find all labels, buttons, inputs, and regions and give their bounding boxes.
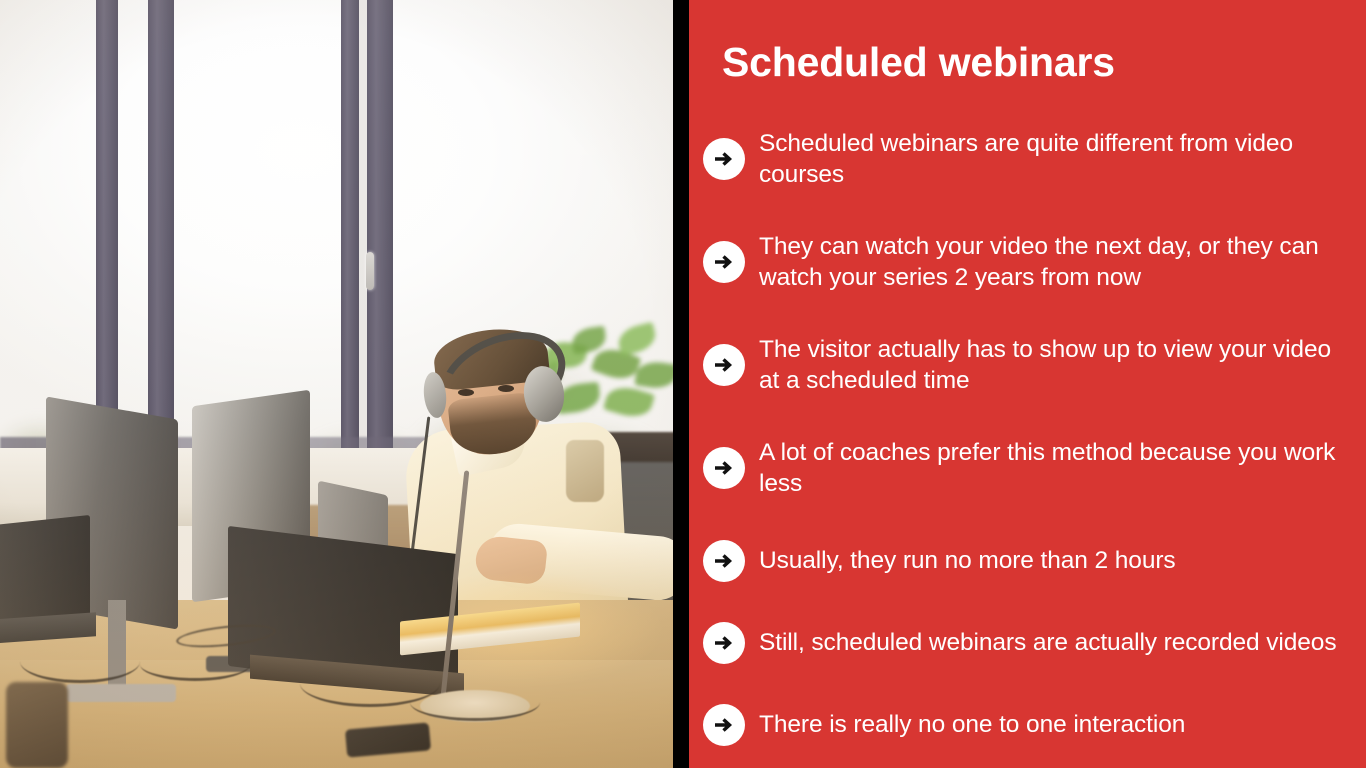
- foreground-cup: [6, 682, 68, 768]
- page-title: Scheduled webinars: [722, 40, 1322, 85]
- office-scene-illustration: [0, 0, 673, 768]
- list-item: Still, scheduled webinars are actually r…: [703, 622, 1358, 664]
- list-item-label: Still, scheduled webinars are actually r…: [759, 627, 1336, 658]
- window-frame-center: [341, 0, 359, 455]
- window-frame-left-inner: [148, 0, 174, 470]
- window-handle: [366, 252, 374, 290]
- arrow-right-icon: [703, 622, 745, 664]
- list-item-label: A lot of coaches prefer this method beca…: [759, 437, 1339, 500]
- slide-content-panel: Scheduled webinars Scheduled webinars ar…: [689, 0, 1366, 768]
- arrow-right-icon: [703, 241, 745, 283]
- list-item-label: The visitor actually has to show up to v…: [759, 334, 1339, 397]
- arrow-right-icon: [703, 344, 745, 386]
- list-item: They can watch your video the next day, …: [703, 231, 1358, 294]
- list-item: Scheduled webinars are quite different f…: [703, 128, 1358, 191]
- list-item: A lot of coaches prefer this method beca…: [703, 437, 1358, 500]
- desk-cable: [410, 684, 540, 721]
- monitor-left-base: [66, 684, 176, 702]
- slide-photo: [0, 0, 673, 768]
- window-frame-left: [96, 0, 118, 470]
- window-frame-center-right: [367, 0, 393, 455]
- coffee-mug: [566, 440, 604, 502]
- list-item-label: They can watch your video the next day, …: [759, 231, 1339, 294]
- panel-divider: [673, 0, 689, 768]
- list-item-label: Scheduled webinars are quite different f…: [759, 128, 1339, 191]
- arrow-right-icon: [703, 138, 745, 180]
- bullet-list: Scheduled webinars are quite different f…: [703, 128, 1358, 746]
- desk-cable: [140, 648, 250, 681]
- desk-cable: [20, 640, 140, 683]
- list-item: There is really no one to one interactio…: [703, 704, 1358, 746]
- arrow-right-icon: [703, 540, 745, 582]
- window-frame-center-light: [359, 0, 367, 455]
- list-item: Usually, they run no more than 2 hours: [703, 540, 1358, 582]
- list-item: The visitor actually has to show up to v…: [703, 334, 1358, 397]
- arrow-right-icon: [703, 447, 745, 489]
- list-item-label: There is really no one to one interactio…: [759, 709, 1185, 740]
- list-item-label: Usually, they run no more than 2 hours: [759, 545, 1176, 576]
- arrow-right-icon: [703, 704, 745, 746]
- presentation-slide: Scheduled webinars Scheduled webinars ar…: [0, 0, 1366, 768]
